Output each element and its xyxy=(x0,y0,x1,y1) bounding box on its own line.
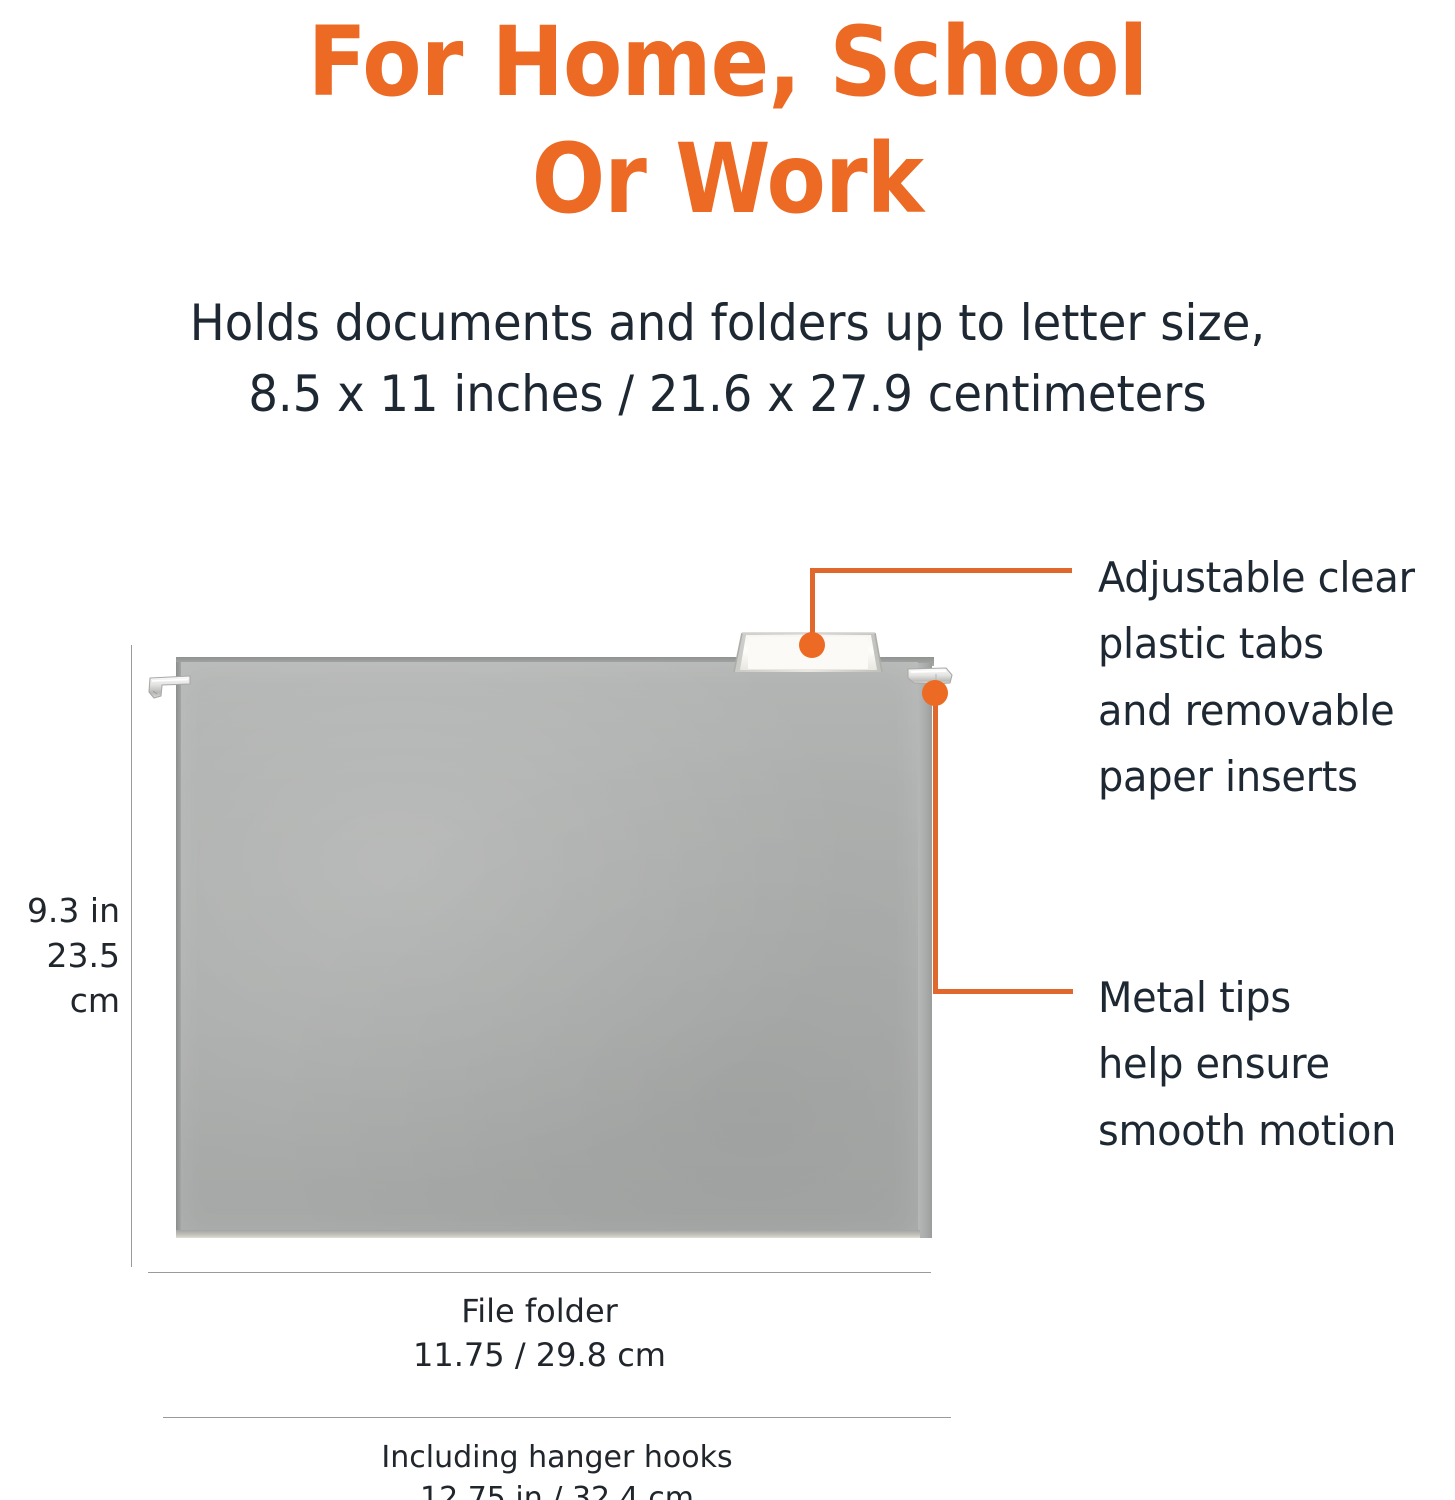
dimension-label-total-width: Including hanger hooks 12.75 in / 32.4 c… xyxy=(163,1437,951,1500)
subtitle-line-2: 8.5 x 11 inches / 21.6 x 27.9 centimeter… xyxy=(51,359,1404,430)
callout-tabs-line-3: and removable xyxy=(1098,678,1415,744)
dimension-rule-height xyxy=(131,645,132,1267)
folder-back-panel-top xyxy=(906,657,934,666)
callout-metal-line-1: Metal tips xyxy=(1098,965,1396,1031)
dimension-label-height: 9.3 in 23.5 cm xyxy=(0,888,120,1024)
dimension-height-cm: 23.5 cm xyxy=(0,933,120,1023)
page-subtitle: Holds documents and folders up to letter… xyxy=(51,288,1404,430)
callout-tabs-line-1: Adjustable clear xyxy=(1098,545,1415,611)
headline-line-1: For Home, School xyxy=(73,4,1383,121)
callout-adjustable-tabs: Adjustable clear plastic tabs and remova… xyxy=(1098,545,1415,810)
leader-dot-tabs xyxy=(799,632,825,658)
folder-back-panel xyxy=(918,663,932,1238)
dimension-label-folder-width: File folder 11.75 / 29.8 cm xyxy=(148,1290,931,1378)
callout-tabs-line-4: paper inserts xyxy=(1098,744,1415,810)
dimension-rule-total-width xyxy=(163,1417,951,1418)
dimension-folder-value: 11.75 / 29.8 cm xyxy=(148,1334,931,1378)
dimension-total-caption: Including hanger hooks xyxy=(163,1437,951,1478)
dimension-height-inches: 9.3 in xyxy=(0,888,120,933)
callout-metal-line-2: help ensure xyxy=(1098,1031,1396,1097)
leader-line-metal-horizontal xyxy=(933,989,1073,994)
infographic-page: For Home, School Or Work Holds documents… xyxy=(0,0,1455,1500)
dimension-rule-folder-width xyxy=(148,1272,931,1273)
dimension-folder-caption: File folder xyxy=(148,1290,931,1334)
folder-front-panel xyxy=(176,662,918,1238)
subtitle-line-1: Holds documents and folders up to letter… xyxy=(51,288,1404,359)
leader-line-tabs-horizontal xyxy=(810,568,1072,573)
callout-metal-line-3: smooth motion xyxy=(1098,1098,1396,1164)
folder-left-edge xyxy=(176,662,181,1238)
leader-dot-metal xyxy=(922,680,948,706)
headline-line-2: Or Work xyxy=(73,121,1383,238)
metal-hook-tip-left-icon xyxy=(148,672,192,706)
folder-top-lip xyxy=(176,657,920,667)
page-title: For Home, School Or Work xyxy=(73,4,1383,238)
folder-bottom-edge xyxy=(176,1230,920,1238)
callout-tabs-line-2: plastic tabs xyxy=(1098,611,1415,677)
leader-line-metal-vertical xyxy=(933,690,938,994)
callout-metal-tips: Metal tips help ensure smooth motion xyxy=(1098,965,1396,1164)
dimension-total-value: 12.75 in / 32.4 cm xyxy=(163,1478,951,1500)
cream-paper-insert xyxy=(900,666,924,1238)
